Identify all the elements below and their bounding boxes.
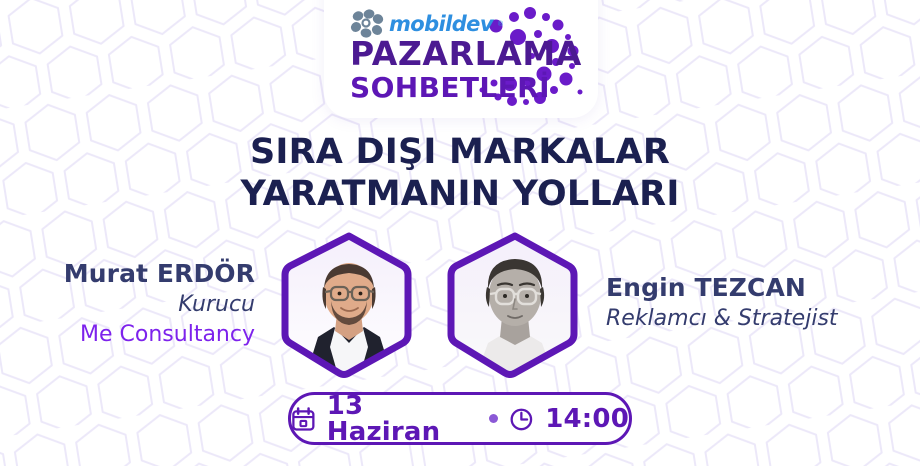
page-title: SIRA DIŞI MARKALAR YARATMANIN YOLLARI xyxy=(0,131,920,215)
dot-separator-icon xyxy=(489,414,498,423)
program-title-line2: SOHBETLERİ xyxy=(350,74,550,102)
speaker-photo-engin-tezcan xyxy=(440,227,590,382)
event-datetime-badge: 13 Haziran 14:00 xyxy=(288,392,632,445)
calendar-icon xyxy=(291,406,316,432)
speaker-photo-murat-erdor xyxy=(274,227,424,382)
speaker-info-right: Engin TEZCAN Reklamcı & Stratejist xyxy=(606,272,896,334)
speaker-info-left: Murat ERDÖR Kurucu Me Consultancy xyxy=(20,258,255,350)
event-date: 13 Haziran xyxy=(327,393,479,445)
clock-icon xyxy=(509,406,534,432)
mobildev-company-name: mobildev xyxy=(389,14,493,35)
program-title-line1: PAZARLAMA xyxy=(350,37,582,70)
speaker-role: Kurucu xyxy=(20,290,255,320)
title-line-1: SIRA DIŞI MARKALAR xyxy=(0,131,920,173)
event-poster: mobildev ® PAZARLAMA SOHBETLERİ SIRA DIŞ… xyxy=(0,0,920,466)
event-time: 14:00 xyxy=(545,406,629,432)
speaker-organization: Me Consultancy xyxy=(20,320,255,350)
speaker-name: Engin TEZCAN xyxy=(606,272,896,304)
speaker-name: Murat ERDÖR xyxy=(20,258,255,290)
brand-logo-block: mobildev ® PAZARLAMA SOHBETLERİ xyxy=(324,0,598,120)
speaker-role: Reklamcı & Stratejist xyxy=(606,304,896,334)
registered-mark: ® xyxy=(498,21,503,28)
title-line-2: YARATMANIN YOLLARI xyxy=(0,173,920,215)
